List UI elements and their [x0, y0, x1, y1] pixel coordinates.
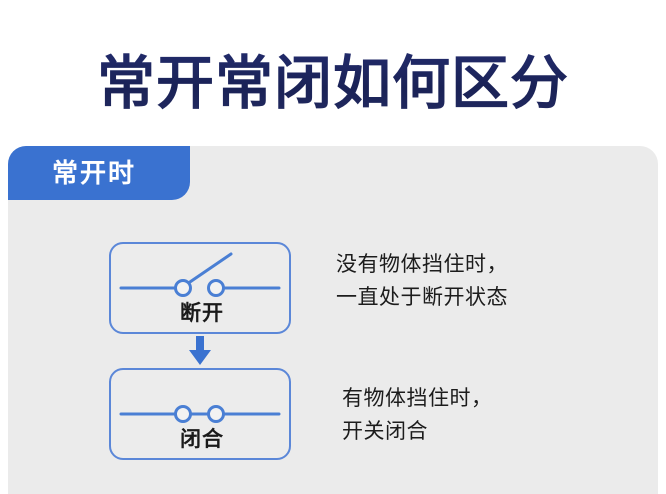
description-closed-line2: 开关闭合	[342, 415, 493, 448]
switch-state-label-open: 断开	[111, 297, 293, 327]
description-closed: 有物体挡住时， 开关闭合	[342, 382, 493, 448]
infographic-page: 常开常闭如何区分 常开时 断开 没有物体挡住时，	[0, 0, 666, 494]
description-open-line2: 一直处于断开状态	[336, 281, 508, 314]
description-open-line1: 没有物体挡住时，	[336, 248, 508, 281]
card-badge: 常开时	[8, 146, 190, 200]
description-closed-line1: 有物体挡住时，	[342, 382, 493, 415]
row-open: 断开 没有物体挡住时， 一直处于断开状态	[8, 242, 658, 334]
row-closed: 闭合 有物体挡住时， 开关闭合	[8, 368, 658, 460]
description-open: 没有物体挡住时， 一直处于断开状态	[336, 248, 508, 314]
page-title: 常开常闭如何区分	[0, 45, 666, 123]
switch-diagram-closed: 闭合	[109, 368, 291, 460]
normally-open-card: 常开时 断开 没有物体挡住时， 一直处于断开状态	[8, 146, 658, 494]
arrow-down-icon	[186, 336, 214, 366]
switch-state-label-closed: 闭合	[111, 423, 293, 453]
switch-diagram-open: 断开	[109, 242, 291, 334]
